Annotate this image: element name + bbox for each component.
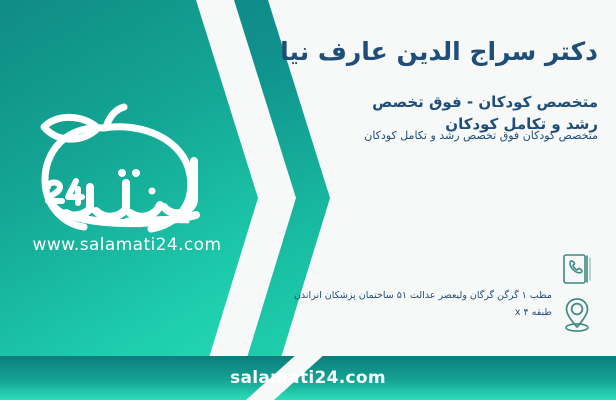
salamati24-logo[interactable]: www.salamati24.com: [18, 95, 236, 270]
address-line-1: مطب ۱ گرگن گرگان ولیعصر عدالت ۵۱ ساختمان…: [252, 288, 552, 305]
clinic-address: مطب ۱ گرگن گرگان ولیعصر عدالت ۵۱ ساختمان…: [252, 288, 552, 321]
doctor-profile-card: www.salamati24.com دکتر سراج الدین عارف …: [0, 0, 616, 400]
contact-icon-column: [554, 252, 594, 340]
specialty-line-1: متخصص کودکان - فوق تخصص: [258, 92, 598, 114]
address-line-2: طبقه ۴ x: [252, 305, 552, 322]
logo-website-url[interactable]: www.salamati24.com: [18, 235, 236, 255]
phone-book-icon[interactable]: [560, 252, 594, 288]
footer-site-label[interactable]: salamati24.com: [0, 356, 616, 400]
page-title: دکتر سراج الدین عارف نیا: [258, 36, 598, 69]
map-pin-icon[interactable]: [560, 296, 594, 332]
specialty-subtext: متخصص کودکان فوق تخصص رشد و تکامل کودکان: [258, 128, 598, 145]
